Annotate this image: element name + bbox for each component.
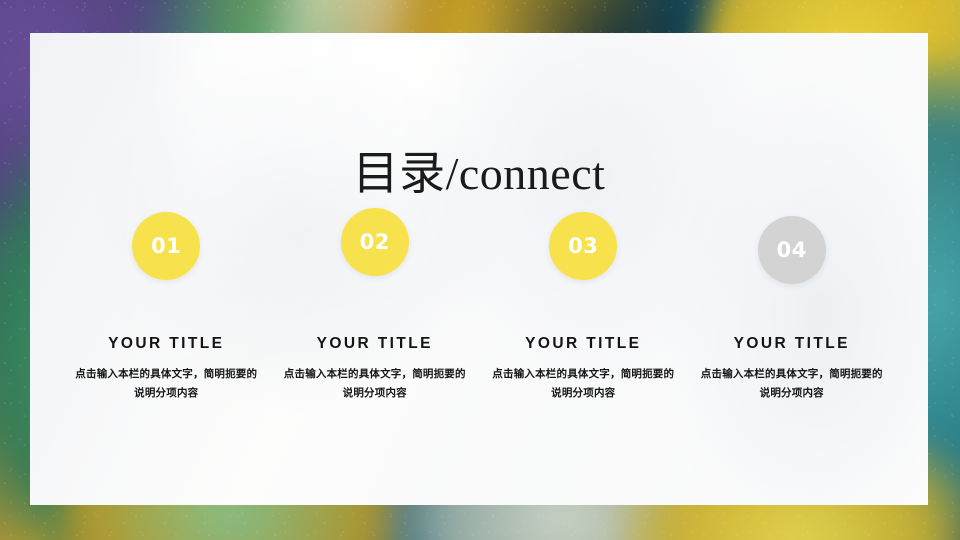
agenda-number-badge-04[interactable]: 04 — [758, 216, 826, 284]
agenda-item-04[interactable]: 04 YOUR TITLE 点击输入本栏的具体文字，简明扼要的说明分项内容 — [688, 208, 897, 404]
agenda-number-badge-02[interactable]: 02 — [341, 208, 409, 276]
content-card: 目录/connect 01 YOUR TITLE 点击输入本栏的具体文字，简明扼… — [30, 33, 928, 505]
agenda-title-02: YOUR TITLE — [317, 335, 433, 353]
agenda-description-01: 点击输入本栏的具体文字，简明扼要的说明分项内容 — [73, 365, 259, 404]
agenda-title-01: YOUR TITLE — [108, 335, 224, 353]
agenda-number-badge-03[interactable]: 03 — [549, 212, 617, 280]
presentation-slide: 目录/connect 01 YOUR TITLE 点击输入本栏的具体文字，简明扼… — [0, 0, 960, 540]
agenda-description-02: 点击输入本栏的具体文字，简明扼要的说明分项内容 — [282, 365, 468, 404]
agenda-item-01[interactable]: 01 YOUR TITLE 点击输入本栏的具体文字，简明扼要的说明分项内容 — [62, 208, 271, 404]
agenda-title-03: YOUR TITLE — [525, 335, 641, 353]
agenda-columns: 01 YOUR TITLE 点击输入本栏的具体文字，简明扼要的说明分项内容 02… — [62, 208, 896, 404]
agenda-description-04: 点击输入本栏的具体文字，简明扼要的说明分项内容 — [699, 365, 885, 404]
agenda-title-04: YOUR TITLE — [734, 335, 850, 353]
agenda-item-02[interactable]: 02 YOUR TITLE 点击输入本栏的具体文字，简明扼要的说明分项内容 — [271, 208, 480, 404]
card-content: 目录/connect 01 YOUR TITLE 点击输入本栏的具体文字，简明扼… — [30, 33, 928, 505]
agenda-description-03: 点击输入本栏的具体文字，简明扼要的说明分项内容 — [490, 365, 676, 404]
agenda-item-03[interactable]: 03 YOUR TITLE 点击输入本栏的具体文字，简明扼要的说明分项内容 — [479, 208, 688, 404]
agenda-number-badge-01[interactable]: 01 — [132, 212, 200, 280]
page-title: 目录/connect — [30, 137, 928, 203]
